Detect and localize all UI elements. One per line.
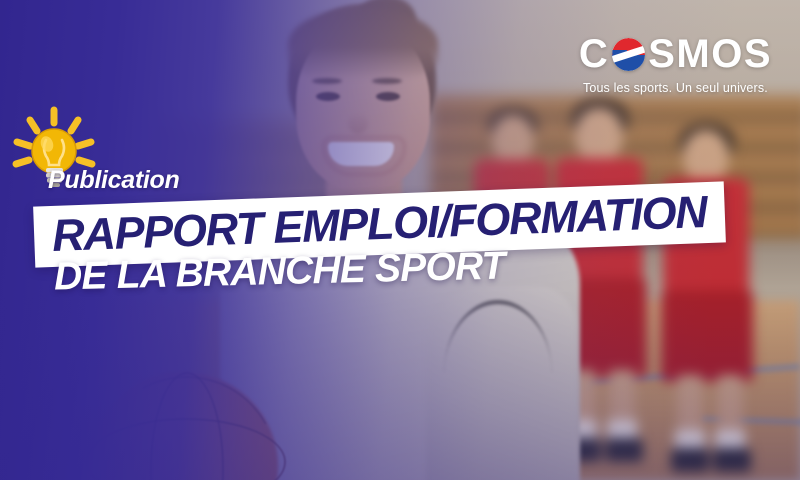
publication-kicker-label: Publication (48, 166, 179, 195)
background-player (655, 130, 775, 460)
logo-letters-smos: SMOS (648, 34, 772, 74)
cosmos-wordmark: C SMOS (579, 34, 772, 74)
cosmos-globe-icon (612, 38, 645, 71)
page-subtitle: DE LA BRANCHE SPORT (54, 247, 505, 297)
logo-tagline: Tous les sports. Un seul univers. (579, 81, 772, 95)
publication-banner: Publication RAPPORT EMPLOI/FORMATION DE … (0, 0, 800, 480)
cosmos-logo[interactable]: C SMOS Tous les sports. Un seul univers. (579, 34, 772, 95)
logo-letter-c: C (579, 34, 609, 74)
